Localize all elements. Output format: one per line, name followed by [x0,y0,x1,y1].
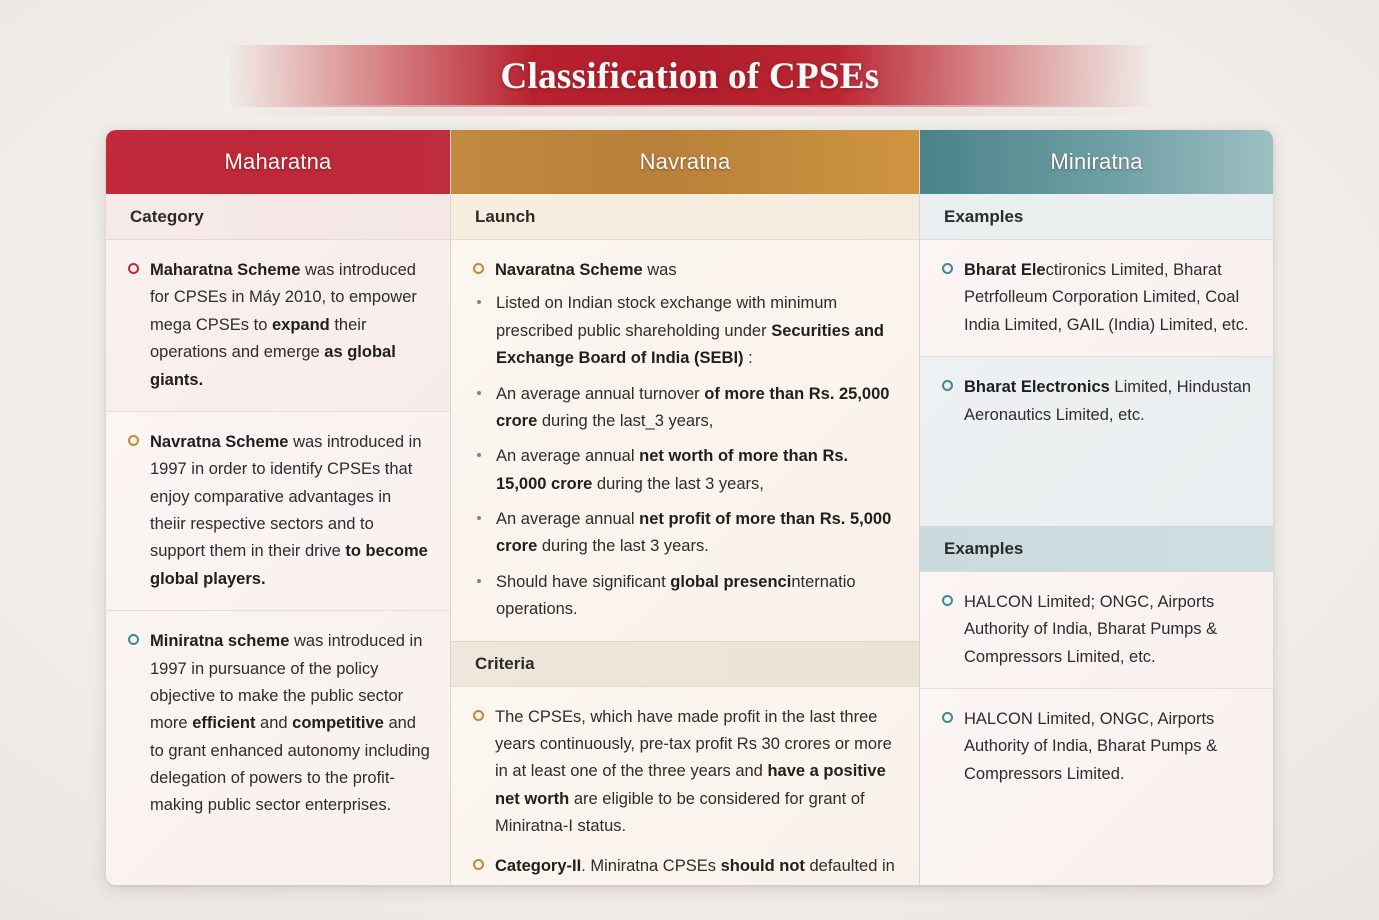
bullet-text: Maharatna Scheme was introduced for CPSE… [150,257,430,394]
dot-bullet-icon [477,453,481,457]
ring-bullet-icon [128,263,139,274]
list-item: Navaratna Scheme was [473,257,899,284]
column-maharatna: Maharatna Category Maharatna Scheme was … [106,130,450,885]
section-heading-examples-1: Examples [920,194,1273,240]
bullet-text: Navaratna Scheme was [495,257,677,284]
content-block: Maharatna Scheme was introduced for CPSE… [106,240,450,411]
dot-bullet-icon [477,516,481,520]
list-item: Navratna Scheme was introduced in 1997 i… [128,429,430,593]
bullet-text: Bharat Electironics Limited, Bharat Petr… [964,257,1253,339]
bullet-text: Category-II. Miniratna CPSEs should not … [495,853,899,885]
column-header-navratna: Navratna [451,130,919,194]
page-title: Classification of CPSEs [501,55,880,98]
bullet-text: Bharat Electronics Limited, Hindustan Ae… [964,374,1253,429]
list-item: Miniratna scheme was introduced in 1997 … [128,628,430,820]
list-item: An average annual net worth of more than… [473,443,899,498]
content-block: The CPSEs, which have made profit in the… [451,687,919,886]
section-heading-criteria: Criteria [451,641,919,687]
column-header-maharatna: Maharatna [106,130,450,194]
section-heading-launch: Launch [451,194,919,240]
ring-bullet-icon [128,435,139,446]
content-block: HALCON Limited, ONGC, Airports Authority… [920,688,1273,885]
column-navratna: Navratna Launch Navaratna Scheme was Lis… [450,130,920,885]
list-item: The CPSEs, which have made profit in the… [473,704,899,841]
ring-bullet-icon [942,263,953,274]
dot-bullet-icon [477,579,481,583]
column-header-miniratna: Miniratna [920,130,1273,194]
bullet-text: An average annual net worth of more than… [496,443,899,498]
list-item: Listed on Indian stock exchange with min… [473,290,899,372]
content-block: Navratna Scheme was introduced in 1997 i… [106,411,450,610]
bullet-text: HALCON Limited, ONGC, Airports Authority… [964,706,1253,788]
dot-bullet-icon [477,300,481,304]
content-block: HALCON Limited; ONGC, Airports Authority… [920,572,1273,688]
sub-bullet-list: Listed on Indian stock exchange with min… [473,290,899,623]
list-item: HALCON Limited, ONGC, Airports Authority… [942,706,1253,788]
classification-table: Maharatna Category Maharatna Scheme was … [106,130,1273,885]
section-heading-category: Category [106,194,450,240]
content-block: Bharat Electronics Limited, Hindustan Ae… [920,356,1273,526]
ring-bullet-icon [128,634,139,645]
section-heading-examples-2: Examples [920,526,1273,572]
bullet-text: The CPSEs, which have made profit in the… [495,704,899,841]
list-item: Bharat Electironics Limited, Bharat Petr… [942,257,1253,339]
column-miniratna: Miniratna Examples Bharat Electironics L… [920,130,1273,885]
content-block: Miniratna scheme was introduced in 1997 … [106,610,450,885]
bullet-text: Miniratna scheme was introduced in 1997 … [150,628,430,820]
list-item: Should have significant global presencin… [473,569,899,624]
bullet-text: HALCON Limited; ONGC, Airports Authority… [964,589,1253,671]
content-block: Navaratna Scheme was Listed on Indian st… [451,240,919,641]
bullet-text: Should have significant global presencin… [496,569,899,624]
list-item: Category-II. Miniratna CPSEs should not … [473,853,899,885]
dot-bullet-icon [477,391,481,395]
ring-bullet-icon [942,595,953,606]
list-item: Maharatna Scheme was introduced for CPSE… [128,257,430,394]
list-item: An average annual net profit of more tha… [473,506,899,561]
bullet-text: An average annual net profit of more tha… [496,506,899,561]
ring-bullet-icon [942,380,953,391]
content-block: Bharat Electironics Limited, Bharat Petr… [920,240,1273,356]
list-item: HALCON Limited; ONGC, Airports Authority… [942,589,1253,671]
ring-bullet-icon [473,710,484,721]
bullet-text: An average annual turnover of more than … [496,381,899,436]
title-banner: Classification of CPSEs [230,45,1150,107]
ring-bullet-icon [473,859,484,870]
ring-bullet-icon [942,712,953,723]
bullet-text: Navratna Scheme was introduced in 1997 i… [150,429,430,593]
bullet-text: Listed on Indian stock exchange with min… [496,290,899,372]
list-item: An average annual turnover of more than … [473,381,899,436]
ring-bullet-icon [473,263,484,274]
list-item: Bharat Electronics Limited, Hindustan Ae… [942,374,1253,429]
